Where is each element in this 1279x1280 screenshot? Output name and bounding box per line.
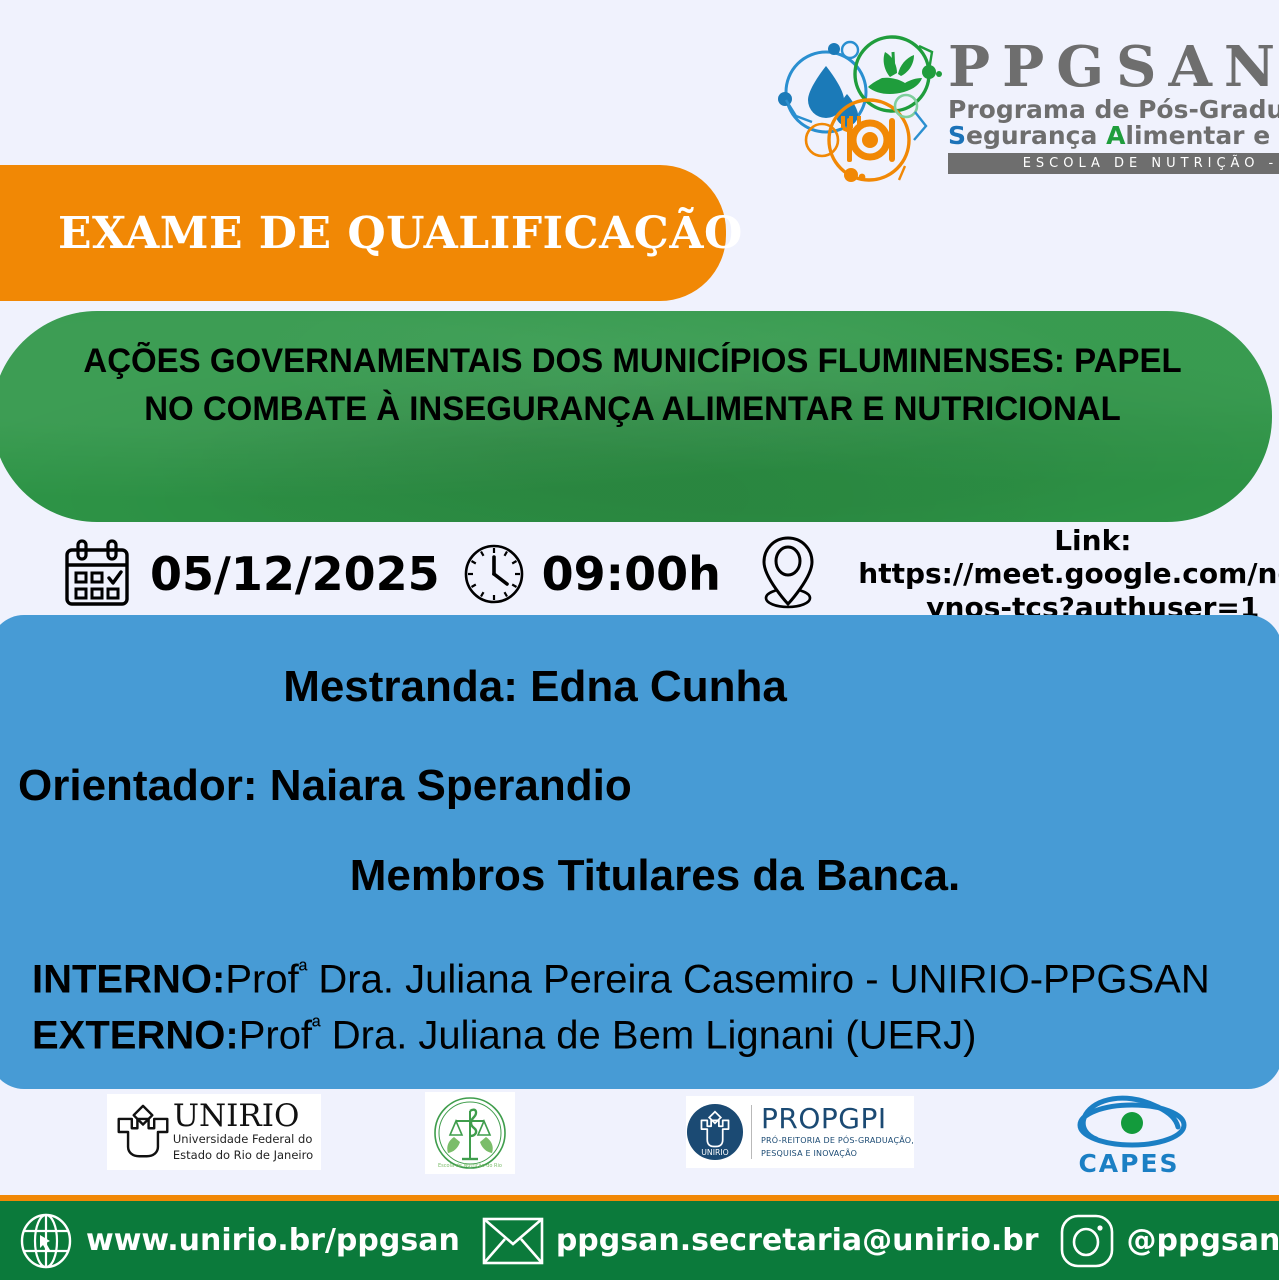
event-link[interactable]: Link: https://meet.google.com/ngv- ynos-…: [833, 524, 1279, 625]
event-date: 05/12/2025: [62, 538, 440, 610]
unirio-mark-icon: [115, 1104, 171, 1160]
unirio-name: UNIRIO: [173, 1102, 313, 1131]
escola-de-nutricao-seal-icon: Escola de Nutrição do Rio: [430, 1093, 510, 1173]
event-link-line1: Link: https://meet.google.com/ngv-: [833, 524, 1279, 591]
internal-member-rest: Dra. Juliana Pereira Casemiro - UNIRIO-P…: [307, 957, 1209, 1001]
external-member-rest: Dra. Juliana de Bem Lignani (UERJ): [321, 1013, 977, 1057]
sponsor-escola-nutricao: Escola de Nutrição do Rio: [425, 1092, 515, 1174]
ppgsan-tagline-line2: Segurança Alimentar e Nutricional: [948, 123, 1279, 149]
event-location: Link: https://meet.google.com/ngv- ynos-…: [757, 524, 1279, 625]
sponsor-unirio: UNIRIO Universidade Federal do Estado do…: [107, 1094, 321, 1170]
internal-member-prof: Prof: [225, 957, 298, 1001]
globe-icon: [18, 1213, 74, 1269]
external-member-ordinal: ª: [312, 1013, 321, 1039]
propgpi-seal-label: UNIRIO: [701, 1148, 728, 1157]
instagram-icon: [1059, 1213, 1115, 1269]
ppgsan-acronym: PPGSAN: [948, 42, 1279, 94]
student-line: Mestranda: Edna Cunha: [0, 662, 1080, 712]
event-time: 09:00h: [462, 542, 721, 606]
envelope-icon: [482, 1216, 544, 1266]
capes-label: CAPES: [1078, 1149, 1179, 1178]
exam-type-banner: EXAME DE QUALIFICAÇÃO: [0, 165, 726, 301]
propgpi-sub-line1: PRÓ-REITORIA DE PÓS-GRADUAÇÃO,: [761, 1136, 914, 1146]
sponsor-propgpi: UNIRIO PROPGPI PRÓ-REITORIA DE PÓS-GRADU…: [686, 1096, 914, 1168]
contact-bar: www.unirio.br/ppgsan ppgsan.secretaria@u…: [0, 1195, 1279, 1280]
page-title: AÇÕES GOVERNAMENTAIS DOS MUNICÍPIOS FLUM…: [62, 337, 1202, 434]
ppgsan-school-bar: ESCOLA DE NUTRIÇÃO - UNIRIO: [948, 153, 1279, 174]
ppgsan-wordmark: PPGSAN Programa de Pós-Graduação em Segu…: [948, 42, 1279, 174]
propgpi-divider: [751, 1105, 752, 1159]
ppgsan-tag-s: S: [948, 121, 966, 150]
board-heading: Membros Titulares da Banca.: [0, 851, 1279, 901]
unirio-sub-line2: Estado do Rio de Janeiro: [173, 1149, 313, 1163]
propgpi-name: PROPGPI: [761, 1105, 914, 1133]
internal-member-label: INTERNO:: [32, 957, 225, 1001]
exam-type-label: EXAME DE QUALIFICAÇÃO: [58, 208, 743, 259]
external-member-prof: Prof: [239, 1013, 312, 1057]
ppgsan-tagline-line1: Programa de Pós-Graduação em: [948, 97, 1279, 123]
internal-member-ordinal: ª: [299, 957, 308, 983]
ppgsan-emblem-icon: [772, 30, 944, 186]
contact-instagram-text: @ppgsan.unirio: [1127, 1223, 1279, 1258]
sponsor-capes: CAPES: [1063, 1094, 1195, 1176]
propgpi-sub-line2: PESQUISA E INOVAÇÃO: [761, 1149, 914, 1159]
external-member-line: EXTERNO:Profª Dra. Juliana de Bem Lignan…: [32, 1013, 976, 1058]
event-info-row: 05/12/2025 09:00h: [0, 528, 1279, 620]
title-banner: AÇÕES GOVERNAMENTAIS DOS MUNICÍPIOS FLUM…: [0, 311, 1272, 522]
event-time-value: 09:00h: [542, 547, 721, 601]
event-date-value: 05/12/2025: [150, 547, 440, 601]
contact-email[interactable]: ppgsan.secretaria@unirio.br: [482, 1216, 1039, 1266]
location-pin-icon: [757, 534, 819, 614]
unirio-sub-line1: Universidade Federal do: [173, 1133, 313, 1147]
contact-email-text: ppgsan.secretaria@unirio.br: [556, 1223, 1039, 1258]
propgpi-seal-icon: UNIRIO: [686, 1103, 744, 1161]
poster-canvas: PPGSAN Programa de Pós-Graduação em Segu…: [0, 0, 1279, 1280]
calendar-icon: [62, 538, 132, 610]
advisor-line: Orientador: Naiara Sperandio: [18, 761, 632, 811]
ppgsan-logo: PPGSAN Programa de Pós-Graduação em Segu…: [772, 28, 1262, 188]
capes-mark-icon: [1066, 1093, 1192, 1151]
contact-website-text: www.unirio.br/ppgsan: [86, 1223, 460, 1258]
contact-instagram[interactable]: @ppgsan.unirio: [1059, 1213, 1279, 1269]
ppgsan-tag-egur: egurança: [966, 121, 1106, 150]
escola-seal-text: Escola de Nutrição do Rio: [438, 1163, 502, 1169]
ppgsan-tag-a: A: [1106, 121, 1125, 150]
clock-icon: [462, 542, 526, 606]
contact-website[interactable]: www.unirio.br/ppgsan: [18, 1213, 460, 1269]
internal-member-line: INTERNO:Profª Dra. Juliana Pereira Casem…: [32, 957, 1210, 1002]
people-panel: Mestranda: Edna Cunha Orientador: Naiara…: [0, 615, 1279, 1089]
external-member-label: EXTERNO:: [32, 1013, 239, 1057]
ppgsan-tag-limentar: limentar e: [1125, 121, 1278, 150]
